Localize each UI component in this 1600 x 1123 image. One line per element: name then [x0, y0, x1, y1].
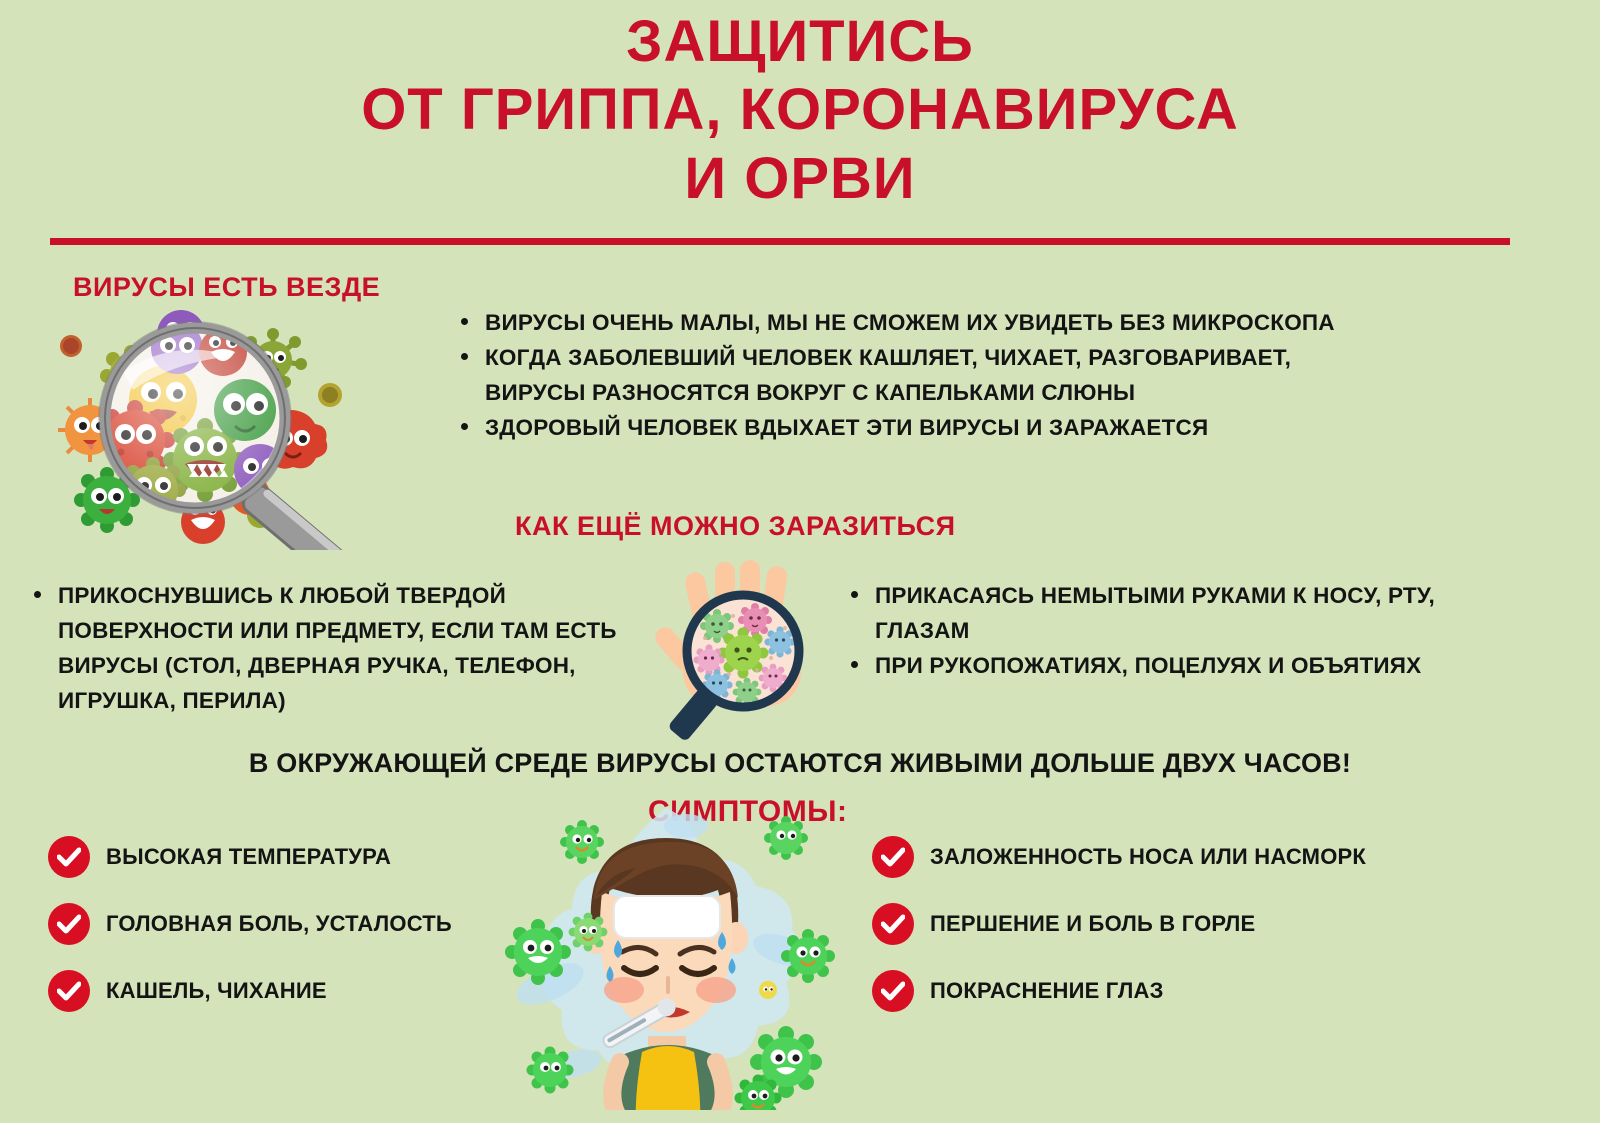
- symptoms-list-left: ВЫСОКАЯ ТЕМПЕРАТУРА ГОЛОВНАЯ БОЛЬ, УСТАЛ…: [48, 836, 452, 1037]
- viruses-everywhere-list: ВИРУСЫ ОЧЕНЬ МАЛЫ, МЫ НЕ СМОЖЕМ ИХ УВИДЕ…: [455, 305, 1355, 445]
- section-heading-how-else-infect: КАК ЕЩЁ МОЖНО ЗАРАЗИТЬСЯ: [515, 511, 956, 542]
- touch-surfaces-list: ПРИКОСНУВШИСЬ К ЛЮБОЙ ТВЕРДОЙ ПОВЕРХНОСТ…: [28, 578, 628, 718]
- list-item: КАШЕЛЬ, ЧИХАНИЕ: [48, 970, 452, 1012]
- list-item: ГОЛОВНАЯ БОЛЬ, УСТАЛОСТЬ: [48, 903, 452, 945]
- page-title: ЗАЩИТИСЬ ОТ ГРИППА, КОРОНАВИРУСА И ОРВИ: [0, 8, 1600, 213]
- bullet-dot: [461, 353, 468, 360]
- symptom-label: ВЫСОКАЯ ТЕМПЕРАТУРА: [106, 844, 391, 870]
- sick-boy-illustration: [490, 800, 840, 1110]
- bullet-text-line4: ИГРУШКА, ПЕРИЛА): [58, 683, 628, 718]
- check-circle-icon: [872, 970, 914, 1012]
- list-item: ЗДОРОВЫЙ ЧЕЛОВЕК ВДЫХАЕТ ЭТИ ВИРУСЫ И ЗА…: [455, 410, 1355, 445]
- list-item: КОГДА ЗАБОЛЕВШИЙ ЧЕЛОВЕК КАШЛЯЕТ, ЧИХАЕТ…: [455, 340, 1355, 410]
- symptom-label: ГОЛОВНАЯ БОЛЬ, УСТАЛОСТЬ: [106, 911, 452, 937]
- check-circle-icon: [872, 903, 914, 945]
- bullet-text-line1: ВИРУСЫ ОЧЕНЬ МАЛЫ, МЫ НЕ СМОЖЕМ ИХ УВИДЕ…: [485, 310, 1335, 335]
- list-item: ВИРУСЫ ОЧЕНЬ МАЛЫ, МЫ НЕ СМОЖЕМ ИХ УВИДЕ…: [455, 305, 1355, 340]
- list-item: ПРИКАСАЯСЬ НЕМЫТЫМИ РУКАМИ К НОСУ, РТУ, …: [845, 578, 1465, 648]
- symptoms-list-right: ЗАЛОЖЕННОСТЬ НОСА ИЛИ НАСМОРК ПЕРШЕНИЕ И…: [872, 836, 1366, 1037]
- bullet-dot: [461, 423, 468, 430]
- list-item: ПРИ РУКОПОЖАТИЯХ, ПОЦЕЛУЯХ И ОБЪЯТИЯХ: [845, 648, 1465, 683]
- symptom-label: КАШЕЛЬ, ЧИХАНИЕ: [106, 978, 327, 1004]
- bullet-text-line2: ПОВЕРХНОСТИ ИЛИ ПРЕДМЕТУ, ЕСЛИ ТАМ ЕСТЬ: [58, 613, 628, 648]
- bullet-dot: [851, 591, 858, 598]
- bullet-text-line3: ВИРУСЫ (СТОЛ, ДВЕРНАЯ РУЧКА, ТЕЛЕФОН,: [58, 648, 628, 683]
- hand-magnifier-illustration: [645, 550, 845, 740]
- bullet-text-line1: ЗДОРОВЫЙ ЧЕЛОВЕК ВДЫХАЕТ ЭТИ ВИРУСЫ И ЗА…: [485, 415, 1208, 440]
- title-line-1: ЗАЩИТИСЬ: [0, 8, 1600, 76]
- check-circle-icon: [48, 903, 90, 945]
- bullet-dot: [34, 591, 41, 598]
- bullet-dot: [461, 318, 468, 325]
- bullet-dot: [851, 661, 858, 668]
- title-line-3: И ОРВИ: [0, 145, 1600, 213]
- bullet-text-line2: ВИРУСЫ РАЗНОСЯТСЯ ВОКРУГ С КАПЕЛЬКАМИ СЛ…: [485, 375, 1355, 410]
- check-circle-icon: [48, 836, 90, 878]
- title-line-2: ОТ ГРИППА, КОРОНАВИРУСА: [0, 76, 1600, 144]
- symptom-label: ПЕРШЕНИЕ И БОЛЬ В ГОРЛЕ: [930, 911, 1255, 937]
- environment-survival-note: В ОКРУЖАЮЩЕЙ СРЕДЕ ВИРУСЫ ОСТАЮТСЯ ЖИВЫМ…: [0, 748, 1600, 779]
- list-item: ПОКРАСНЕНИЕ ГЛАЗ: [872, 970, 1366, 1012]
- title-divider: [50, 238, 1510, 245]
- bullet-text-line1: КОГДА ЗАБОЛЕВШИЙ ЧЕЛОВЕК КАШЛЯЕТ, ЧИХАЕТ…: [485, 345, 1291, 370]
- list-item: ПЕРШЕНИЕ И БОЛЬ В ГОРЛЕ: [872, 903, 1366, 945]
- bullet-text-line1: ПРИКАСАЯСЬ НЕМЫТЫМИ РУКАМИ К НОСУ, РТУ,: [875, 583, 1435, 608]
- bullet-text-line2: ГЛАЗАМ: [875, 613, 1465, 648]
- magnifier-germs-illustration: [45, 300, 425, 550]
- poster-root: ЗАЩИТИСЬ ОТ ГРИППА, КОРОНАВИРУСА И ОРВИ …: [0, 0, 1600, 1123]
- symptom-label: ЗАЛОЖЕННОСТЬ НОСА ИЛИ НАСМОРК: [930, 844, 1366, 870]
- list-item: ЗАЛОЖЕННОСТЬ НОСА ИЛИ НАСМОРК: [872, 836, 1366, 878]
- symptom-label: ПОКРАСНЕНИЕ ГЛАЗ: [930, 978, 1164, 1004]
- check-circle-icon: [872, 836, 914, 878]
- list-item: ПРИКОСНУВШИСЬ К ЛЮБОЙ ТВЕРДОЙ ПОВЕРХНОСТ…: [28, 578, 628, 718]
- section-heading-viruses-everywhere: ВИРУСЫ ЕСТЬ ВЕЗДЕ: [73, 272, 380, 303]
- check-circle-icon: [48, 970, 90, 1012]
- bullet-text-line1: ПРИ РУКОПОЖАТИЯХ, ПОЦЕЛУЯХ И ОБЪЯТИЯХ: [875, 653, 1421, 678]
- unwashed-hands-list: ПРИКАСАЯСЬ НЕМЫТЫМИ РУКАМИ К НОСУ, РТУ, …: [845, 578, 1465, 683]
- bullet-text-line1: ПРИКОСНУВШИСЬ К ЛЮБОЙ ТВЕРДОЙ: [58, 583, 506, 608]
- list-item: ВЫСОКАЯ ТЕМПЕРАТУРА: [48, 836, 452, 878]
